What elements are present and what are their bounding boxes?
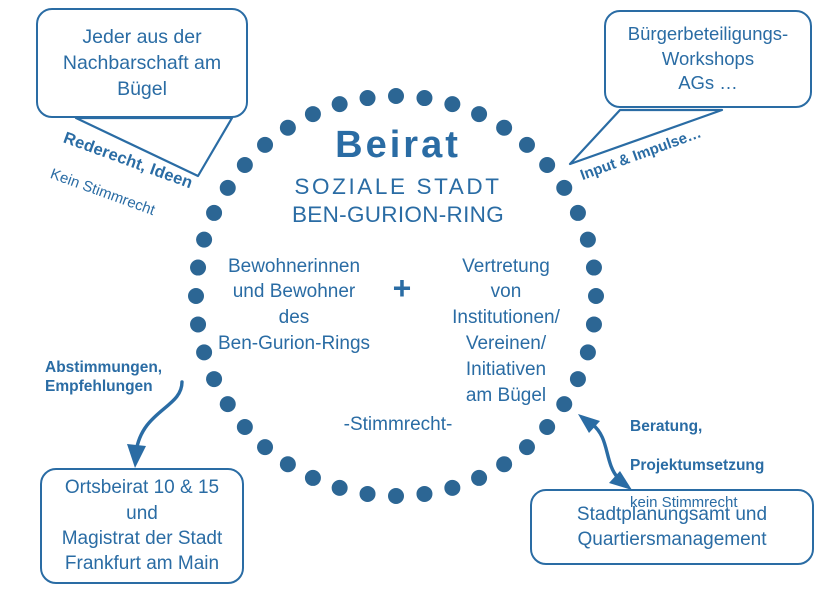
bubble-ortsbeirat-text: Ortsbeirat 10 & 15 und Magistrat der Sta…	[42, 475, 242, 577]
bubble-neighbourhood[interactable]: Jeder aus der Nachbarschaft am Bügel	[36, 8, 248, 118]
bubble-participation-text: Bürgerbeteiligungs- Workshops AGs …	[606, 22, 810, 96]
caption-beratung-line2: Projektumsetzung	[630, 456, 806, 475]
arrowhead-beratung-down	[609, 471, 632, 490]
arrowhead-abstimmungen	[127, 444, 146, 468]
caption-abstimmungen: Abstimmungen, Empfehlungen	[45, 358, 215, 396]
diagram-canvas: Beirat SOZIALE STADT BEN-GURION-RING Bew…	[0, 0, 820, 600]
caption-beratung-line1: Beratung,	[630, 417, 806, 436]
arrow-beratung	[592, 424, 618, 478]
bubble-neighbourhood-text: Jeder aus der Nachbarschaft am Bügel	[38, 24, 246, 102]
caption-beratung: Beratung, Projektumsetzung kein Stimmrec…	[630, 398, 806, 532]
bubble-ortsbeirat[interactable]: Ortsbeirat 10 & 15 und Magistrat der Sta…	[40, 468, 244, 584]
caption-beratung-line3: kein Stimmrecht	[630, 494, 806, 513]
bubble-participation[interactable]: Bürgerbeteiligungs- Workshops AGs …	[604, 10, 812, 108]
